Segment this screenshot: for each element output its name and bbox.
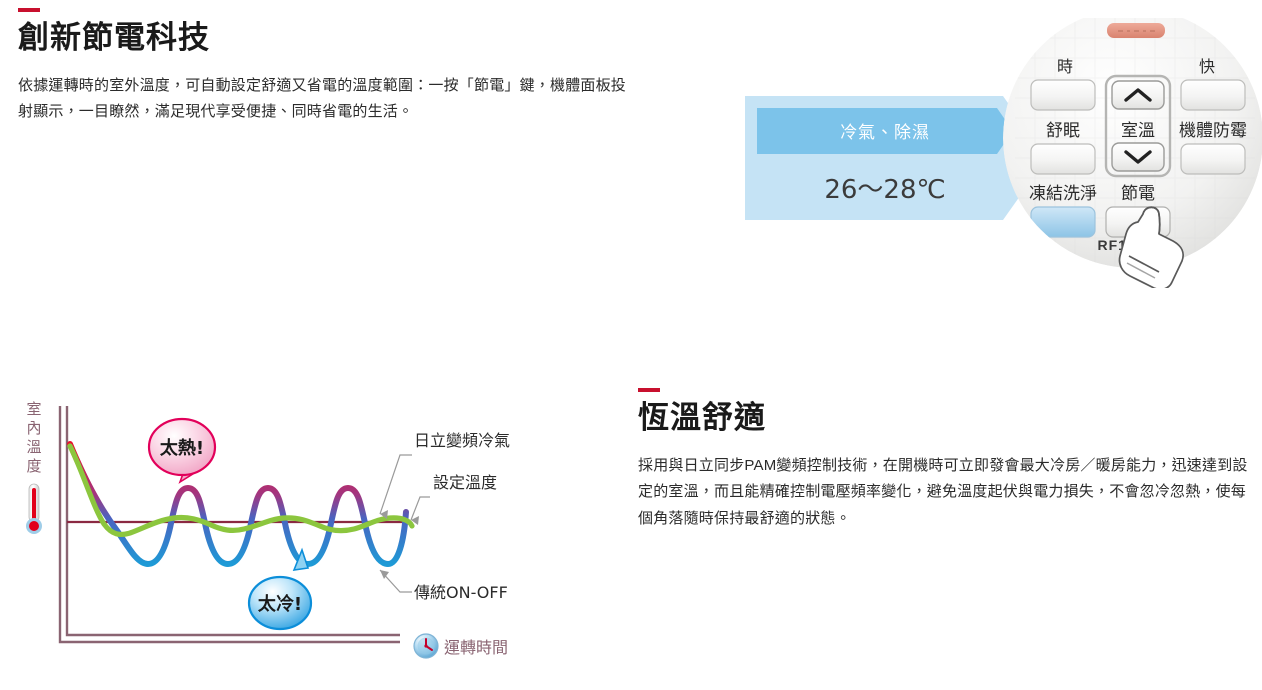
callout-value-text: 26～28℃ xyxy=(824,175,945,205)
indoor-temperature-chart: 室 內 溫 度 太熱! xyxy=(8,392,548,684)
legend-label-set-temperature: 設定溫度 xyxy=(433,473,497,492)
page-title: 恆溫舒適 xyxy=(638,401,1254,435)
button-label-anti-mold: 機體防霉 xyxy=(1179,121,1247,141)
page-title: 創新節電科技 xyxy=(18,21,628,55)
button-label-quick: 快 xyxy=(1199,57,1215,76)
button-temp-up xyxy=(1112,81,1164,109)
ir-emitter xyxy=(1107,23,1165,38)
button-label-freeze-clean: 凍結洗淨 xyxy=(1029,184,1097,204)
button-label-timer: 時 xyxy=(1057,57,1073,76)
button-label-room-temp: 室溫 xyxy=(1121,121,1155,141)
annotation-too-hot-text: 太熱! xyxy=(160,437,204,459)
series-conventional-on-off xyxy=(70,444,406,564)
thermometer-icon xyxy=(26,484,42,534)
button-anti-mold xyxy=(1181,144,1245,174)
button-label-power-save: 節電 xyxy=(1121,184,1155,204)
legend-label-conventional-on-off: 傳統ON-OFF xyxy=(414,583,508,602)
accent-dash xyxy=(638,388,660,392)
accent-dash xyxy=(18,8,40,12)
x-axis-label-group: 運轉時間 xyxy=(414,634,508,658)
remote-control-illustration: 冷氣、除濕 26～28℃ 時 舒眠 凍結洗淨 xyxy=(735,18,1262,288)
section-body-text: 依據運轉時的室外溫度，可自動設定舒適又省電的溫度範圍：一按「節電」鍵，機體面板投… xyxy=(18,73,628,126)
annotation-too-cold: 太冷! xyxy=(249,550,311,629)
y-axis-label-group: 室 內 溫 度 xyxy=(26,400,42,534)
button-timer xyxy=(1031,80,1095,110)
clock-icon xyxy=(414,634,438,658)
callout-header-text: 冷氣、除濕 xyxy=(840,123,930,143)
svg-text:溫: 溫 xyxy=(26,438,41,456)
button-freeze-clean xyxy=(1031,207,1095,237)
svg-text:度: 度 xyxy=(26,457,41,475)
annotation-too-cold-text: 太冷! xyxy=(258,593,302,615)
section-comfort: 恆溫舒適 採用與日立同步PAM變頻控制技術，在開機時可立即發會最大冷房／暖房能力… xyxy=(638,388,1254,532)
section-innovation: 創新節電科技 依據運轉時的室外溫度，可自動設定舒適又省電的溫度範圍：一按「節電」… xyxy=(18,8,628,126)
y-axis-label: 室 xyxy=(26,400,41,418)
button-label-sleep: 舒眠 xyxy=(1046,121,1080,141)
button-quick xyxy=(1181,80,1245,110)
svg-text:內: 內 xyxy=(26,419,41,437)
legend-label-hitachi-inverter: 日立變頻冷氣 xyxy=(414,431,510,450)
annotation-too-hot: 太熱! xyxy=(149,419,215,482)
button-sleep xyxy=(1031,144,1095,174)
button-temp-down xyxy=(1112,143,1164,171)
callout-panel: 冷氣、除濕 26～28℃ xyxy=(745,96,1047,220)
section-body-text: 採用與日立同步PAM變頻控制技術，在開機時可立即發會最大冷房／暖房能力，迅速達到… xyxy=(638,453,1254,532)
x-axis-label: 運轉時間 xyxy=(444,638,508,657)
